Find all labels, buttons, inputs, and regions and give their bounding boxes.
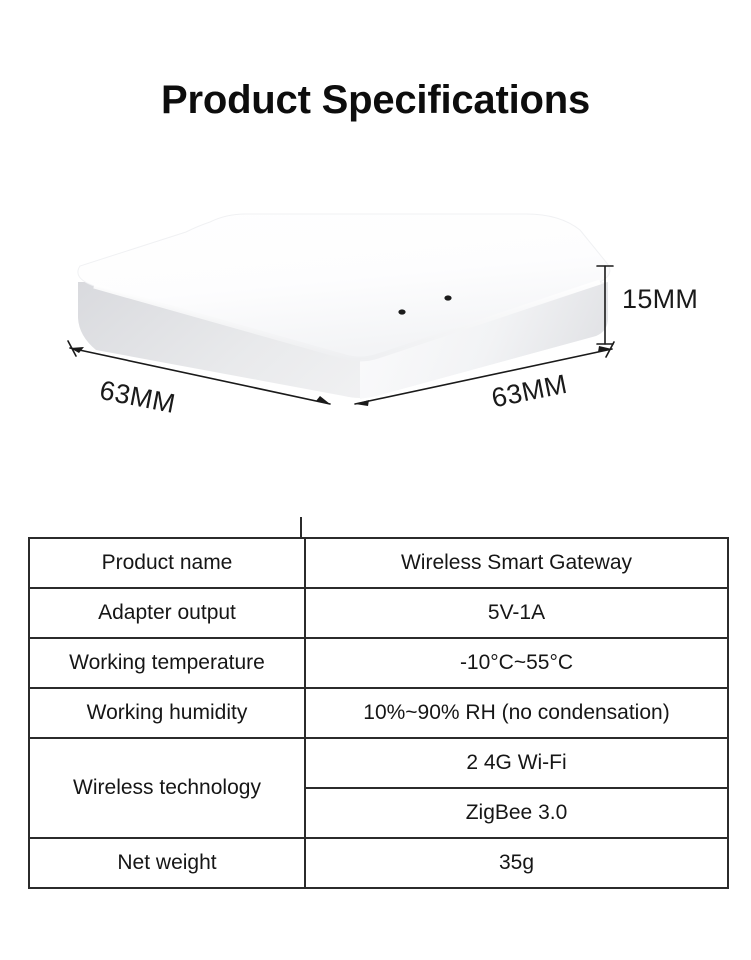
- table-row: Product name Wireless Smart Gateway: [29, 538, 728, 588]
- spec-value-adapter-output: 5V-1A: [305, 588, 728, 638]
- spec-label-product-name: Product name: [29, 538, 305, 588]
- table-row: Working temperature -10°C~55°C: [29, 638, 728, 688]
- spec-label-net-weight: Net weight: [29, 838, 305, 888]
- product-illustration: 63MM 63MM 15MM: [0, 200, 751, 460]
- specifications-table: Product name Wireless Smart Gateway Adap…: [28, 537, 729, 889]
- page-title: Product Specifications: [0, 80, 751, 120]
- spec-value-working-humidity: 10%~90% RH (no condensation): [305, 688, 728, 738]
- spec-value-working-temperature: -10°C~55°C: [305, 638, 728, 688]
- spec-value-product-name: Wireless Smart Gateway: [305, 538, 728, 588]
- spec-label-working-temperature: Working temperature: [29, 638, 305, 688]
- spec-label-working-humidity: Working humidity: [29, 688, 305, 738]
- spec-label-wireless-technology: Wireless technology: [29, 738, 305, 838]
- spec-label-adapter-output: Adapter output: [29, 588, 305, 638]
- spec-value-wireless-wifi: 2 4G Wi-Fi: [305, 738, 728, 788]
- table-row: Adapter output 5V-1A: [29, 588, 728, 638]
- led-indicator-icon: [398, 309, 405, 314]
- table-row: Net weight 35g: [29, 838, 728, 888]
- table-divider-stub: [300, 517, 302, 538]
- table-row: Wireless technology 2 4G Wi-Fi: [29, 738, 728, 788]
- spec-value-wireless-zigbee: ZigBee 3.0: [305, 788, 728, 838]
- table-row: Working humidity 10%~90% RH (no condensa…: [29, 688, 728, 738]
- led-indicator-icon: [444, 295, 451, 300]
- spec-value-net-weight: 35g: [305, 838, 728, 888]
- dimension-label-height: 15MM: [622, 284, 698, 315]
